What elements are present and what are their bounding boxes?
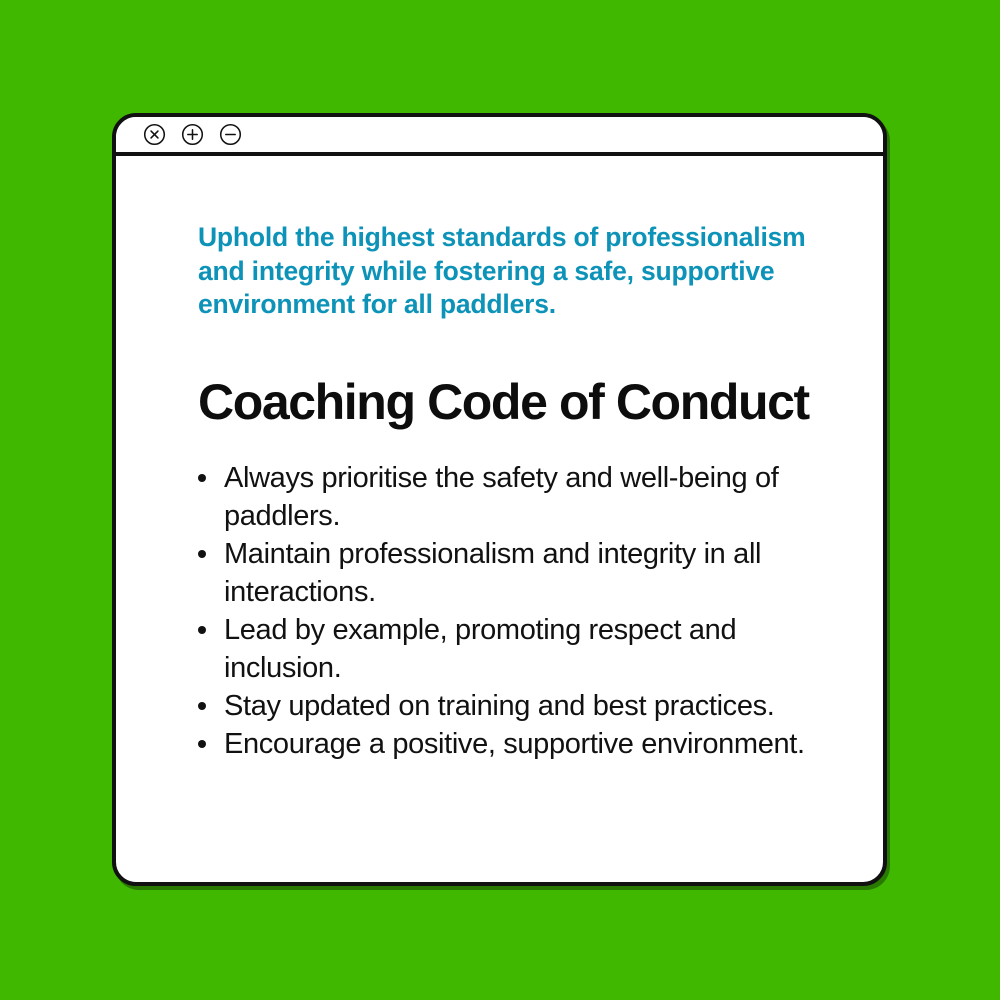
- list-item-label: Stay updated on training and best practi…: [224, 690, 774, 722]
- minimize-icon[interactable]: [219, 123, 242, 146]
- list-item: Stay updated on training and best practi…: [198, 687, 843, 725]
- code-of-conduct-list: Always prioritise the safety and well-be…: [198, 431, 843, 763]
- list-item-label: Lead by example, promoting respect and i…: [224, 614, 736, 684]
- bullet-dot-icon: [198, 702, 206, 710]
- list-item: Encourage a positive, supportive environ…: [198, 725, 843, 763]
- page-title: Coaching Code of Conduct: [198, 322, 843, 431]
- list-item: Lead by example, promoting respect and i…: [198, 611, 843, 687]
- subtitle-text: Uphold the highest standards of professi…: [198, 160, 813, 322]
- list-item-label: Always prioritise the safety and well-be…: [224, 462, 779, 532]
- slide-canvas: Uphold the highest standards of professi…: [0, 0, 1000, 1000]
- window-content: Uphold the highest standards of professi…: [116, 160, 883, 882]
- close-icon[interactable]: [143, 123, 166, 146]
- maximize-icon[interactable]: [181, 123, 204, 146]
- bullet-dot-icon: [198, 474, 206, 482]
- bullet-dot-icon: [198, 550, 206, 558]
- list-item: Maintain professionalism and integrity i…: [198, 535, 843, 611]
- list-item-label: Maintain professionalism and integrity i…: [224, 538, 761, 608]
- window-titlebar: [116, 117, 883, 156]
- list-item-label: Encourage a positive, supportive environ…: [224, 728, 805, 760]
- window-card: Uphold the highest standards of professi…: [112, 113, 887, 886]
- list-item: Always prioritise the safety and well-be…: [198, 459, 843, 535]
- bullet-dot-icon: [198, 740, 206, 748]
- bullet-dot-icon: [198, 626, 206, 634]
